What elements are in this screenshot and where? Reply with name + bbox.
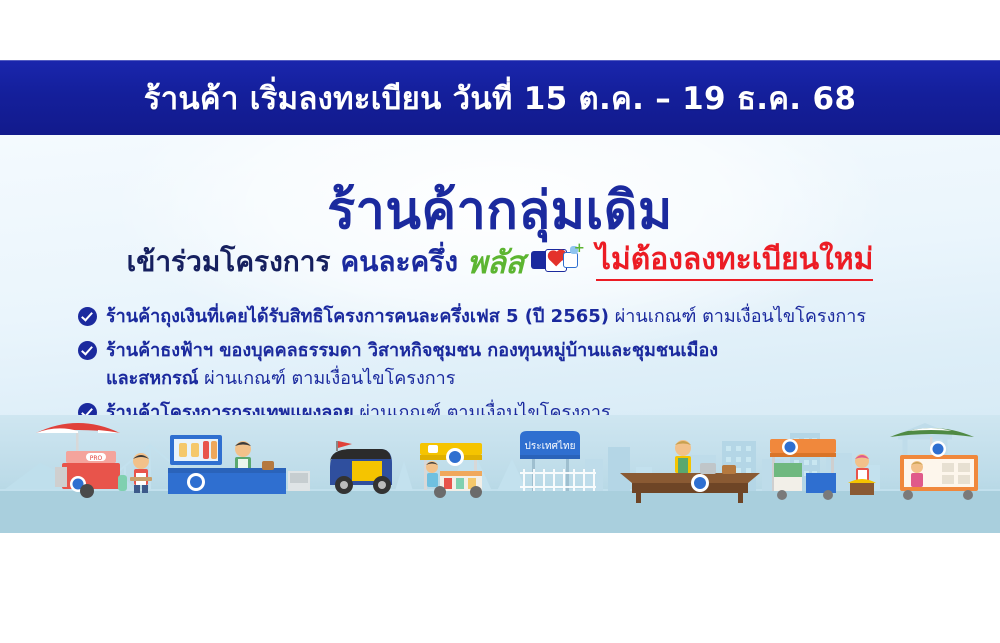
vendor-carts-group: PRO [0,415,1000,533]
vendor-cart-orange-awning [770,439,836,500]
list-item-regular: ผ่านเกณฑ์ ตามเงื่อนไขโครงการ [198,368,455,389]
footer-white-area [0,533,1000,643]
list-item-text: ร้านค้าธงฟ้าฯ ของบุคคลธรรมดา วิสาหกิจชุม… [106,337,718,393]
subtitle-plus-word: พลัส [467,237,524,287]
header-banner: ร้านค้า เริ่มลงทะเบียน วันที่ 15 ต.ค. – … [0,60,1000,135]
vendor-cart-red-umbrella: PRO [36,423,127,498]
list-item-regular: ผ่านเกณฑ์ ตามเงื่อนไขโครงการ [609,306,866,327]
infographic-poster: ร้านค้า เริ่มลงทะเบียน วันที่ 15 ต.ค. – … [0,0,1000,643]
conditions-list: ร้านค้าถุงเงินที่เคยได้รับสิทธิโครงการคน… [78,303,958,433]
list-item-bold-line2: และสหกรณ์ [106,368,198,389]
road-sign-label: ประเทศไทย [525,440,576,452]
plus-sign-icon: + [574,244,583,253]
list-item: ร้านค้าธงฟ้าฯ ของบุคคลธรรมดา วิสาหกิจชุม… [78,337,958,393]
vendor-cart-yellow [420,443,482,498]
main-content-area: ร้านค้ากลุ่มเดิม เข้าร่วมโครงการ คนละครึ… [0,135,1000,533]
list-item: ร้านค้าถุงเงินที่เคยได้รับสิทธิโครงการคน… [78,303,958,331]
list-item-bold: ร้านค้าถุงเงินที่เคยได้รับสิทธิโครงการคน… [106,306,609,327]
subtitle-join-program: เข้าร่วมโครงการ [127,240,331,284]
street-vendors-illustration: PRO [0,415,1000,533]
check-circle-icon [78,341,97,360]
list-item-text: ร้านค้าถุงเงินที่เคยได้รับสิทธิโครงการคน… [106,303,866,331]
vendor-cart-green-umbrella [890,428,978,500]
vendor-fruit-stand [848,454,876,495]
check-circle-icon [78,307,97,326]
vendor-table-wooden [620,440,760,503]
subtitle-program-name: คนละครึ่ง [340,240,458,284]
header-title: ร้านค้า เริ่มลงทะเบียน วันที่ 15 ต.ค. – … [144,73,856,123]
tuk-tuk-vehicle [330,441,392,494]
list-item-bold: ร้านค้าธงฟ้าฯ ของบุคคลธรรมดา วิสาหกิจชุม… [106,340,718,361]
subtitle-row: เข้าร่วมโครงการ คนละครึ่ง พลัส + ไม่ต้อง… [0,237,1000,287]
puzzle-heart-logo-icon: + [529,243,581,281]
svg-text:PRO: PRO [90,455,103,462]
vendor-stall-blue [168,435,310,494]
subtitle-no-new-registration: ไม่ต้องลงทะเบียนใหม่ [596,243,874,282]
top-white-strip [0,0,1000,60]
vendor-person-standing [130,453,152,493]
thailand-road-sign: ประเทศไทย [520,431,596,491]
